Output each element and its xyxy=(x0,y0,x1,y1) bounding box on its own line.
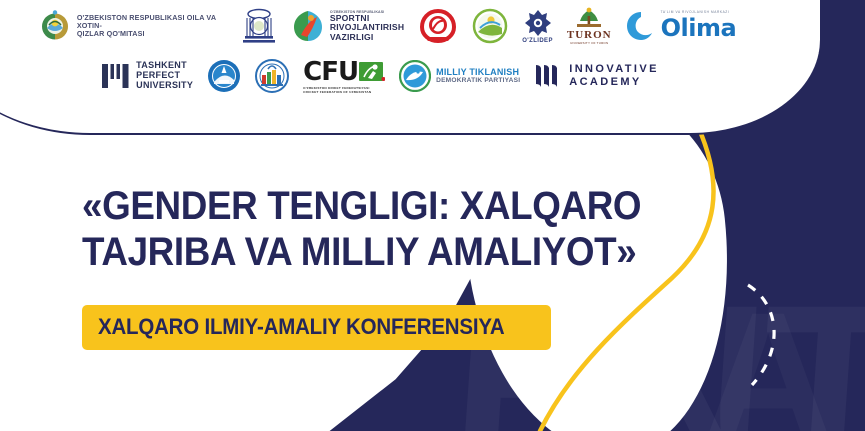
sport-ministry-icon xyxy=(291,9,325,43)
logo-cricket-federation-uzbekistan[interactable]: CFU O'ZBEKISTON KRIKET FEDERATSIYASI xyxy=(303,57,385,95)
cricket-player-icon xyxy=(359,61,385,83)
ozlidep-cross-icon xyxy=(523,8,553,38)
logo-red-federation-emblem[interactable] xyxy=(418,8,458,44)
olima-swoosh-icon xyxy=(626,11,656,41)
turon-tree-icon xyxy=(574,7,604,29)
logo-tashkent-perfect-university[interactable]: TASHKENT PERFECT UNIVERSITY xyxy=(101,61,193,91)
logo-innovative-line1: INNOVATIVE xyxy=(569,63,659,76)
title-line-1: «GENDER TENGLIGI: XALQARO xyxy=(82,183,579,229)
logo-cfu-name: CFU xyxy=(303,57,358,87)
logo-blue-university-emblem-2[interactable] xyxy=(255,59,289,93)
red-wreath-emblem-icon xyxy=(418,8,458,44)
logo-blue-institution-emblem[interactable] xyxy=(241,6,277,46)
logo-innovative-text: INNOVATIVE ACADEMY xyxy=(569,63,659,90)
logo-sport-big-lines: SPORTNI RIVOJLANTIRISH VAZIRLIGI xyxy=(330,14,404,42)
logo-tpu-text: TASHKENT PERFECT UNIVERSITY xyxy=(136,61,193,91)
subtitle-text: XALQARO ILMIY-AMALIY KONFERENSIYA xyxy=(98,314,505,340)
conference-title: «GENDER TENGLIGI: XALQARO TAJRIBA VA MIL… xyxy=(82,183,622,276)
logo-tpu-line3: UNIVERSITY xyxy=(136,81,193,91)
logo-row-2: TASHKENT PERFECT UNIVERSITY xyxy=(0,52,760,100)
logo-green-circle-emblem[interactable] xyxy=(472,8,508,44)
conference-poster: ENT A xyxy=(0,0,865,431)
innovative-academy-bars-icon xyxy=(534,63,564,89)
logo-oila-text: O'ZBEKISTON RESPUBLIKASI OILA VA XOTIN- … xyxy=(77,14,227,38)
logo-oila-line2: QIZLAR QO'MITASI xyxy=(77,30,227,38)
logo-milliy-line2: DEMOKRATIK PARTIYASI xyxy=(436,77,520,84)
tpu-bars-icon xyxy=(101,62,131,90)
institution-crest-icon xyxy=(241,6,277,46)
logo-oila-line1: O'ZBEKISTON RESPUBLIKASI OILA VA XOTIN- xyxy=(77,14,227,30)
logo-oila-xotin-qizlar-qomitasi[interactable]: O'ZBEKISTON RESPUBLIKASI OILA VA XOTIN- … xyxy=(38,9,227,43)
uzbekistan-state-emblem-icon xyxy=(38,9,72,43)
logo-turon[interactable]: TURON UNIVERSITY OF TURON xyxy=(567,7,612,45)
subtitle-banner: XALQARO ILMIY-AMALIY KONFERENSIYA xyxy=(82,305,551,350)
logo-blue-university-emblem-1[interactable] xyxy=(207,59,241,93)
logo-olima-name: Olima xyxy=(661,14,737,42)
milliy-tiklanish-bird-icon xyxy=(399,60,431,92)
logo-olima[interactable]: TA'LIM VA RIVOJLANISH MARKAZI Olima xyxy=(626,10,737,42)
logo-sport-text: O'ZBEKISTON RESPUBLIKASI SPORTNI RIVOJLA… xyxy=(330,10,404,42)
logo-innovative-line2: ACADEMY xyxy=(569,76,659,89)
logo-milliy-text: MILLIY TIKLANISH DEMOKRATIK PARTIYASI xyxy=(436,67,520,84)
logo-ozlidep-label: O'ZLIDEP xyxy=(522,38,553,44)
title-line-2: TAJRIBA VA MILLIY AMALIYOT» xyxy=(82,229,579,275)
logo-milliy-tiklanish-demokratik-partiyasi[interactable]: MILLIY TIKLANISH DEMOKRATIK PARTIYASI xyxy=(399,60,520,92)
logo-turon-sub: UNIVERSITY OF TURON xyxy=(570,41,608,45)
logo-milliy-line1: MILLIY TIKLANISH xyxy=(436,67,520,77)
logo-turon-name: TURON xyxy=(567,29,612,41)
logo-sport-line3: VAZIRLIGI xyxy=(330,33,404,42)
logo-innovative-academy[interactable]: INNOVATIVE ACADEMY xyxy=(534,63,659,90)
logo-row-1: O'ZBEKISTON RESPUBLIKASI OILA VA XOTIN- … xyxy=(0,0,760,52)
green-circular-emblem-icon xyxy=(472,8,508,44)
logo-rows: O'ZBEKISTON RESPUBLIKASI OILA VA XOTIN- … xyxy=(0,0,760,100)
sponsor-header-panel: O'ZBEKISTON RESPUBLIKASI OILA VA XOTIN- … xyxy=(0,0,820,135)
logo-sportni-rivojlantirish-vazirligi[interactable]: O'ZBEKISTON RESPUBLIKASI SPORTNI RIVOJLA… xyxy=(291,9,404,43)
logo-cfu-sub-line2: CRICKET FEDERATION OF UZBEKISTAN xyxy=(303,91,371,95)
university-seal-icon xyxy=(255,59,289,93)
university-seal-icon xyxy=(207,59,241,93)
logo-ozlidep[interactable]: O'ZLIDEP xyxy=(522,8,553,44)
logo-cfu-sub: O'ZBEKISTON KRIKET FEDERATSIYASI CRICKET… xyxy=(303,87,371,95)
